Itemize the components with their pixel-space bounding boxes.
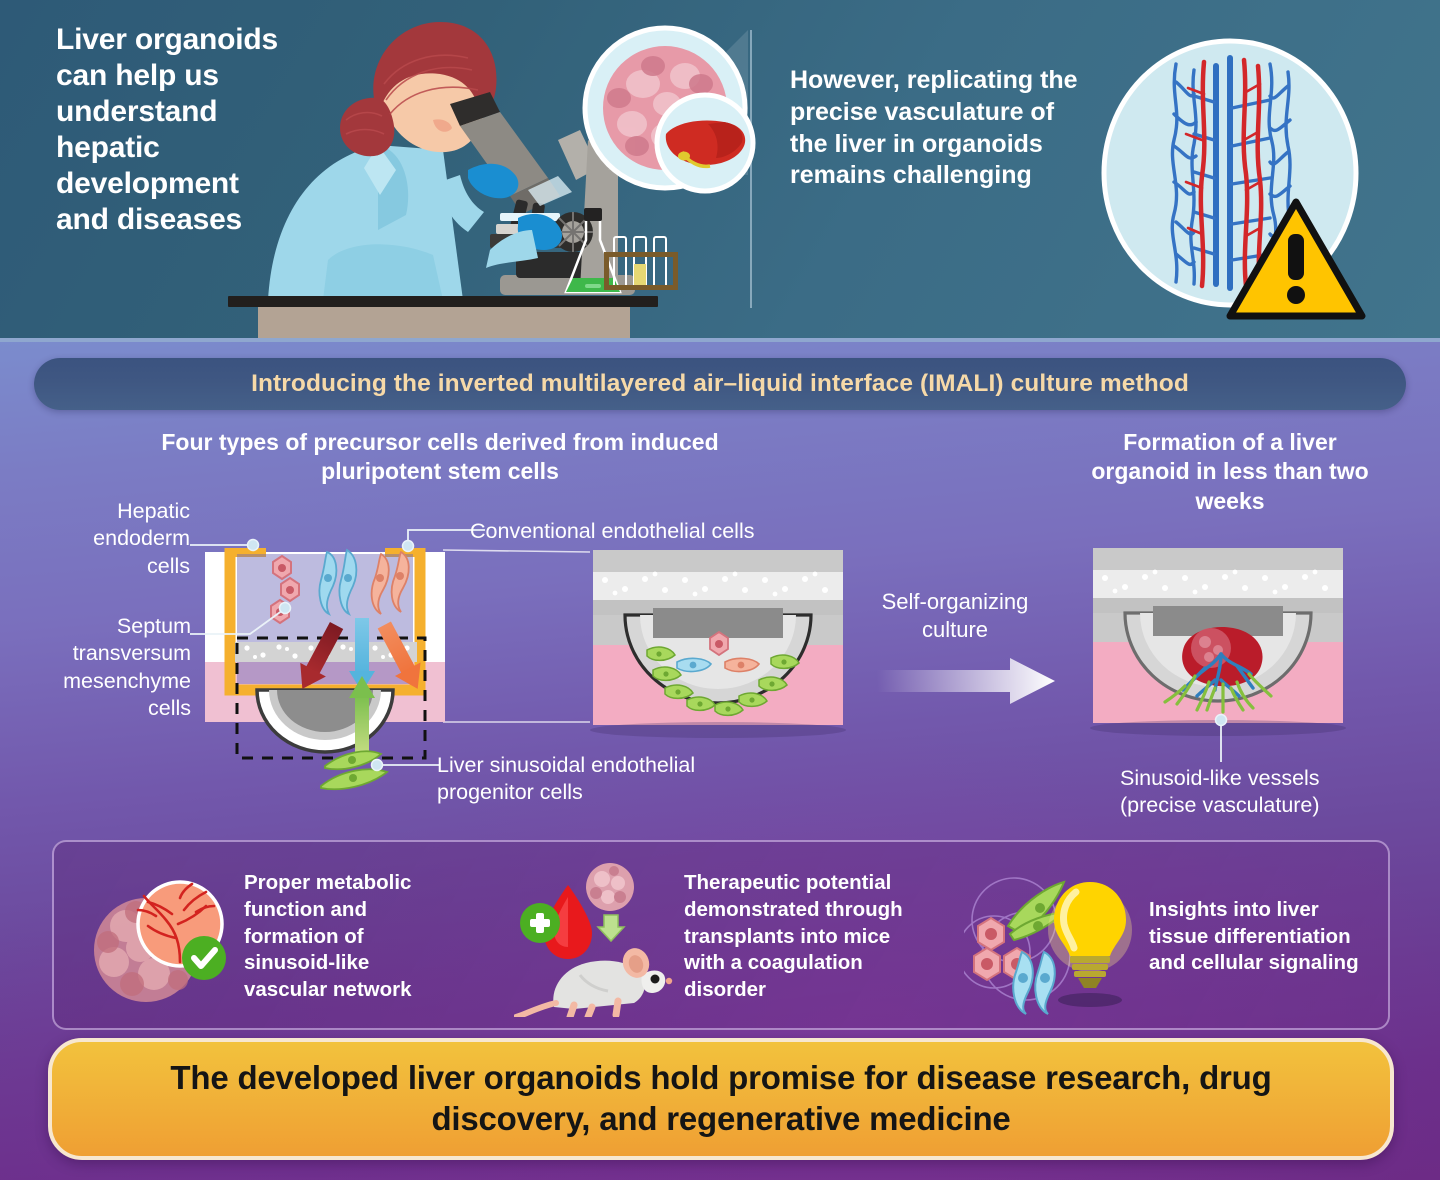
imali-banner: Introducing the inverted multilayered ai… [34, 358, 1406, 410]
conclusion-text: The developed liver organoids hold promi… [131, 1058, 1311, 1140]
method-left-heading: Four types of precursor cells derived fr… [140, 428, 740, 487]
header-bottom-divider [0, 338, 1440, 342]
benefits-panel: Proper metabolic function and formation … [52, 840, 1390, 1030]
mouse-blood-drop-transplant-icon [514, 857, 684, 1017]
middle-well-diagram [590, 550, 846, 738]
right-well-diagram [1090, 548, 1346, 736]
benefit-item-2: Therapeutic potential demonstrated throu… [514, 842, 964, 1032]
label-sinusoid-like-vessels: Sinusoid-like vessels (precise vasculatu… [1120, 765, 1380, 820]
label-septum-transversum-mesenchyme-cells: Septum transversum mesenchyme cells [36, 613, 191, 722]
label-self-organizing-culture: Self-organizing culture [860, 588, 1050, 644]
benefit-text-2: Therapeutic potential demonstrated throu… [684, 870, 919, 1003]
infographic-root: Liver organoids can help us understand h… [0, 0, 1440, 1180]
warning-triangle-icon [1226, 196, 1366, 324]
cells-lightbulb-insight-icon [964, 860, 1149, 1015]
header-section: Liver organoids can help us understand h… [0, 0, 1440, 340]
lab-bench-body [258, 307, 630, 340]
benefit-text-3: Insights into liver tissue differentiati… [1149, 897, 1379, 977]
conclusion-banner: The developed liver organoids hold promi… [48, 1038, 1394, 1160]
benefit-text-1: Proper metabolic function and formation … [244, 870, 444, 1003]
lightbulb-icon [1048, 882, 1132, 1007]
imali-banner-title: Introducing the inverted multilayered ai… [251, 370, 1189, 398]
mouse-icon [516, 945, 672, 1017]
liver-organ-icon [650, 88, 760, 198]
left-well-diagram [205, 548, 445, 763]
label-hepatic-endoderm-cells: Hepatic endoderm cells [60, 498, 190, 580]
header-right-text: However, replicating the precise vascula… [790, 65, 1090, 192]
benefit-item-3: Insights into liver tissue differentiati… [964, 842, 1384, 1032]
lab-bench-top [228, 296, 658, 307]
label-conventional-endothelial-cells: Conventional endothelial cells [470, 518, 800, 545]
endothelial-cells [1013, 952, 1055, 1014]
benefit-item-1: Proper metabolic function and formation … [84, 842, 514, 1032]
label-liver-sinusoidal-endothelial-progenitor-cells: Liver sinusoidal endothelial progenitor … [437, 752, 737, 807]
self-organizing-arrow-icon [877, 658, 1055, 704]
organoid-sphere [586, 863, 634, 911]
organoid-vascular-network-check-icon [84, 862, 244, 1012]
